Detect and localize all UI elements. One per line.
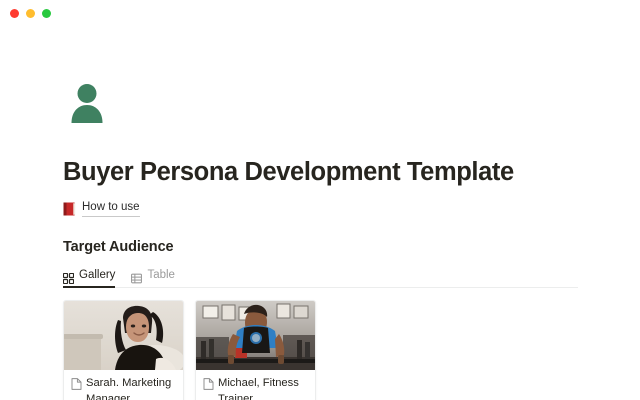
page-icon <box>71 377 82 389</box>
page-title: Buyer Persona Development Template <box>63 158 616 187</box>
tab-gallery[interactable]: Gallery <box>63 266 115 287</box>
table-icon <box>131 271 142 282</box>
how-to-use-label: How to use <box>82 200 140 216</box>
closed-book-emoji <box>63 202 76 216</box>
tab-gallery-label: Gallery <box>79 270 115 282</box>
window-minimize-button[interactable] <box>26 9 35 18</box>
card-body: Sarah. Marketing Manager <box>64 370 183 400</box>
view-tabs: Gallery Table <box>63 266 616 288</box>
window-maximize-button[interactable] <box>42 9 51 18</box>
grid-icon <box>63 271 74 282</box>
gallery-card[interactable]: Sarah. Marketing Manager <box>63 300 184 400</box>
tab-table[interactable]: Table <box>131 266 175 287</box>
card-title: Michael, Fitness Trainer <box>218 376 308 400</box>
card-thumbnail-michael <box>196 301 315 370</box>
page-icon <box>203 377 214 389</box>
how-to-use-link[interactable]: How to use <box>63 200 140 216</box>
card-title: Sarah. Marketing Manager <box>86 376 176 400</box>
gallery-grid: Sarah. Marketing Manager <box>63 300 616 400</box>
tab-table-label: Table <box>147 270 175 282</box>
card-thumbnail-sarah <box>64 301 183 370</box>
person-icon[interactable] <box>63 79 111 127</box>
window-titlebar <box>0 0 640 26</box>
gallery-card[interactable]: Michael, Fitness Trainer <box>195 300 316 400</box>
page-content: Buyer Persona Development Template How t… <box>0 79 640 400</box>
card-body: Michael, Fitness Trainer <box>196 370 315 400</box>
section-heading: Target Audience <box>63 239 616 255</box>
window-close-button[interactable] <box>10 9 19 18</box>
